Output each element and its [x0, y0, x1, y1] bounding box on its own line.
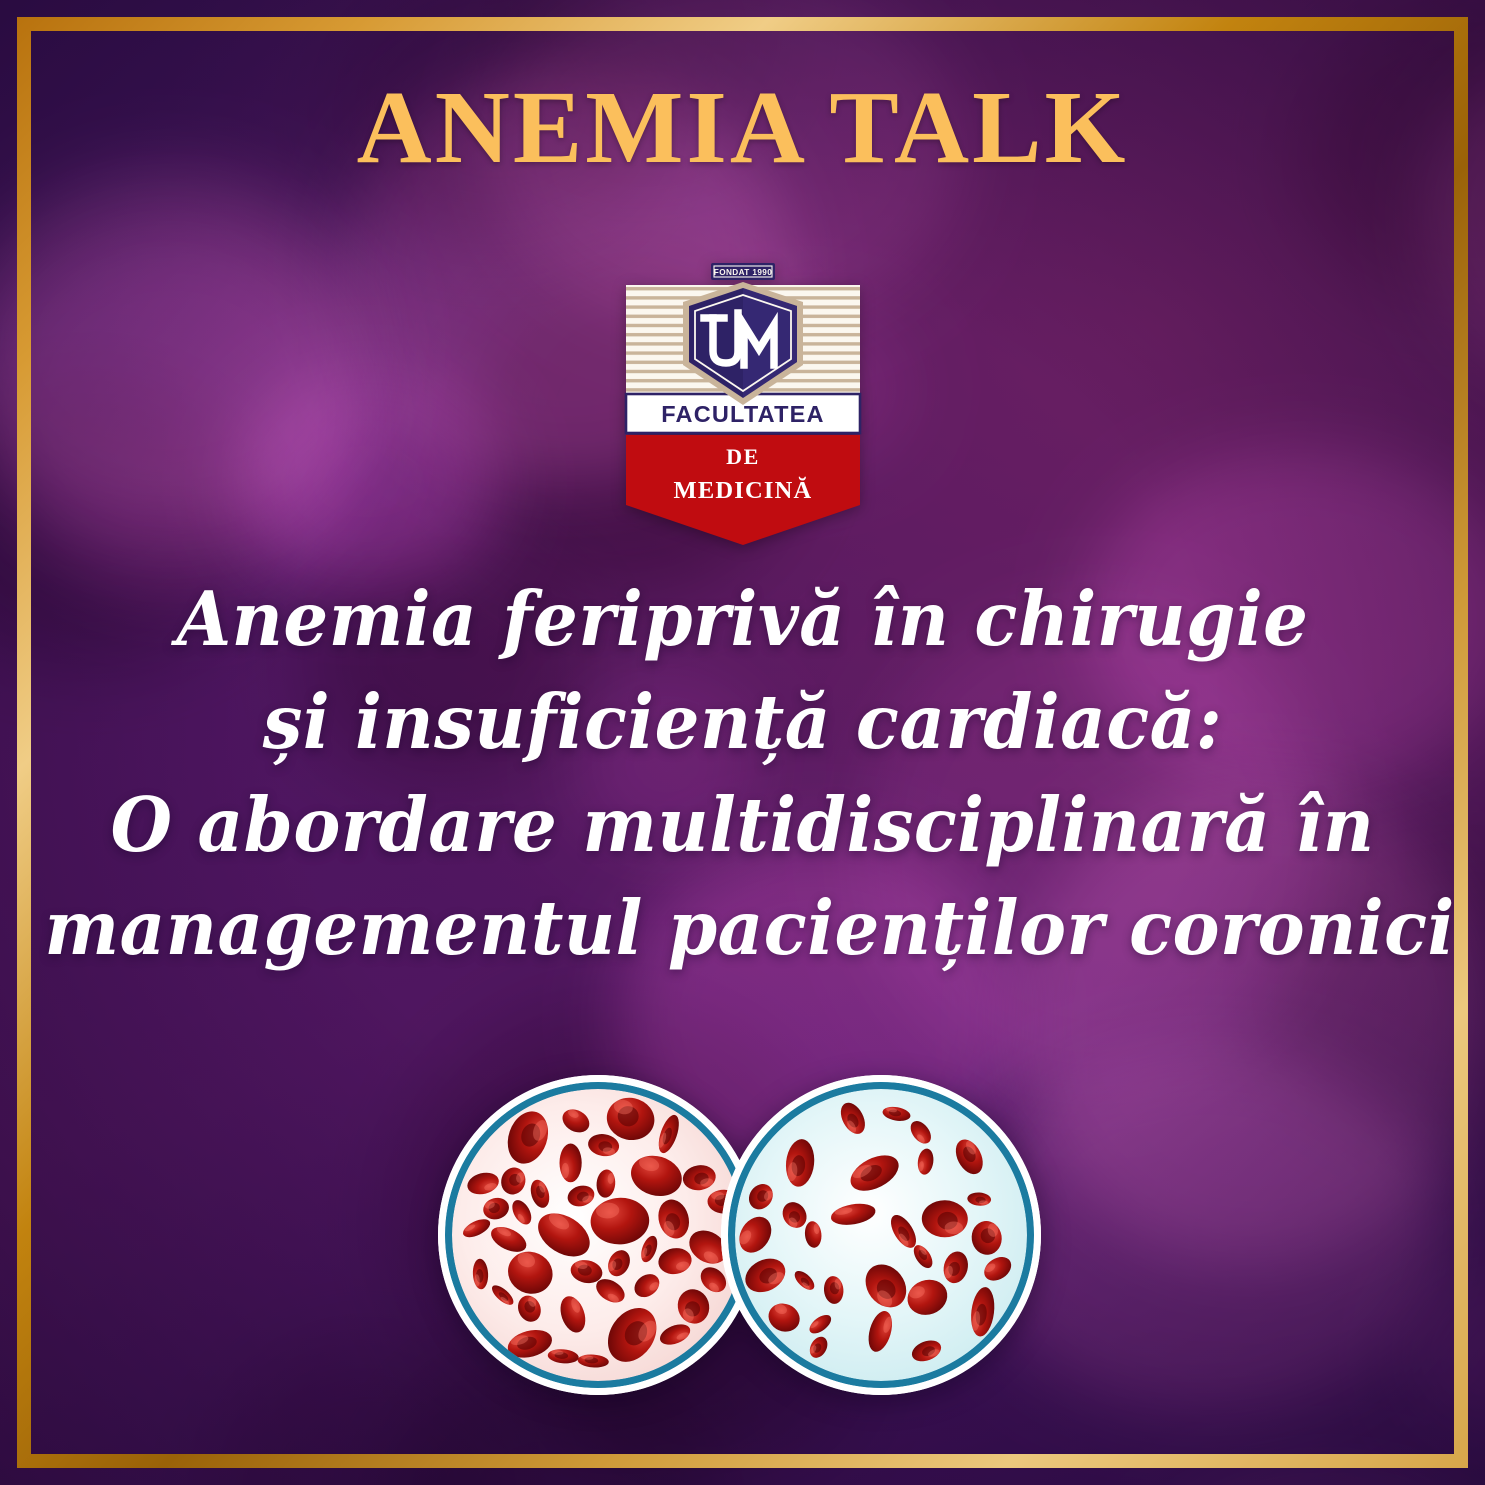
title-line-2: și insuficiență cardiacă:: [45, 671, 1441, 774]
blood-smear-svg: [423, 1055, 1063, 1415]
poster-content: ANEMIA TALK FONDAT 1990: [0, 0, 1485, 1485]
red-blood-cell: [559, 1144, 581, 1183]
poster-canvas: ANEMIA TALK FONDAT 1990: [0, 0, 1485, 1485]
right-circle-anemic: [721, 1075, 1041, 1395]
title-line-3: O abordare multidisciplinară în: [45, 774, 1441, 877]
title-line-1: Anemia feriprivă în chirugie: [45, 568, 1441, 671]
left-circle-normal: [438, 1075, 758, 1395]
poster-kicker: ANEMIA TALK: [0, 76, 1485, 180]
crest-svg: FONDAT 1990 FACULTATEA DE MEDICINĂ: [618, 255, 868, 550]
presentation-title: Anemia feriprivă în chirugie și insufici…: [45, 568, 1441, 980]
university-logo: FONDAT 1990 FACULTATEA DE MEDICINĂ: [618, 255, 868, 550]
title-line-4: managementul pacienților coronici: [45, 877, 1441, 980]
crest-founded-text: FONDAT 1990: [713, 268, 771, 277]
blood-smear-comparison: [423, 1055, 1063, 1415]
crest-facultatea-text: FACULTATEA: [661, 401, 824, 427]
crest-medicina-text: MEDICINĂ: [673, 476, 812, 504]
crest-de-text: DE: [726, 444, 760, 469]
